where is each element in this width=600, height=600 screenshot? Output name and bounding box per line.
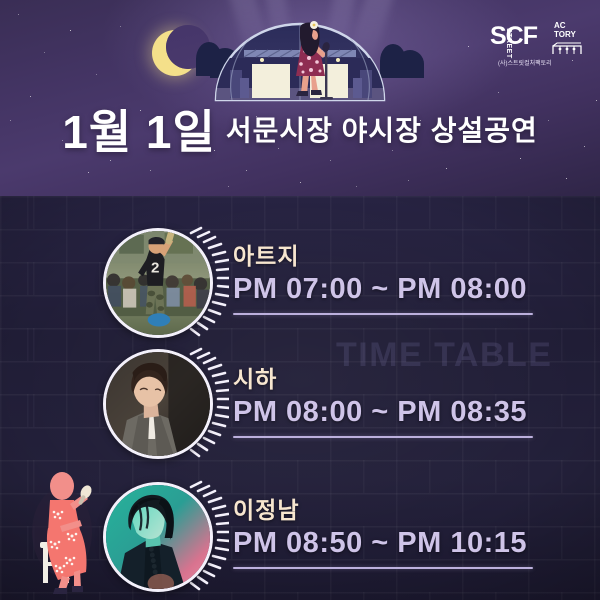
row-divider [233, 313, 533, 315]
event-date: 1월 1일 [62, 109, 216, 155]
avatar[interactable]: 2 [103, 228, 223, 344]
timetable-row[interactable]: 2 아트지 PM 07:00 ~ PM 08:00 [0, 228, 600, 344]
row-divider [233, 436, 533, 438]
logo-tory-text: TORY [554, 31, 576, 40]
artist-name: 시하 [233, 367, 543, 392]
timetable-row[interactable]: 시하 PM 08:00 ~ PM 08:35 [0, 345, 600, 461]
performance-time: PM 08:50 ~ PM 10:15 [233, 527, 543, 560]
avatar[interactable] [103, 349, 223, 465]
performance-time: PM 07:00 ~ PM 08:00 [233, 273, 543, 306]
artist-photo-leejeongnam [106, 485, 210, 589]
logo-street-text: STREET [505, 28, 512, 59]
artist-name: 아트지 [233, 244, 543, 269]
performance-time: PM 08:00 ~ PM 08:35 [233, 396, 543, 429]
avatar[interactable] [103, 482, 223, 598]
bush-icon [396, 50, 424, 78]
artist-avatar-image[interactable] [103, 482, 213, 592]
header-title-row: 1월 1일 서문시장 야시장 상설공연 [0, 96, 600, 168]
artist-avatar-image[interactable] [103, 349, 213, 459]
artist-name: 이정남 [233, 498, 543, 523]
standing-singer-illustration [281, 20, 339, 100]
logo-subtitle: (사)스트릿컬처팩토리 [498, 58, 552, 67]
poster-root: 1월 1일 서문시장 야시장 상설공연 SCF STREET AC TORY (… [0, 0, 600, 600]
logo-main-text: SCF [490, 24, 537, 49]
artist-photo-artzi: 2 [106, 231, 210, 335]
event-subject: 서문시장 야시장 상설공연 [226, 117, 538, 147]
row-divider [233, 567, 533, 569]
row-text-block: 시하 PM 08:00 ~ PM 08:35 [233, 367, 543, 438]
artist-photo-siha [106, 352, 210, 456]
artist-avatar-image[interactable]: 2 [103, 228, 213, 338]
svg-text:2: 2 [151, 260, 159, 277]
row-text-block: 이정남 PM 08:50 ~ PM 10:15 [233, 498, 543, 569]
stage-truss-icon [552, 42, 582, 55]
scf-logo[interactable]: SCF STREET AC TORY (사)스트릿컬처팩토리 [490, 22, 586, 66]
row-text-block: 아트지 PM 07:00 ~ PM 08:00 [233, 244, 543, 315]
header-night-sky: 1월 1일 서문시장 야시장 상설공연 SCF STREET AC TORY (… [0, 0, 600, 198]
timetable-row[interactable]: 이정남 PM 08:50 ~ PM 10:15 [0, 478, 600, 594]
